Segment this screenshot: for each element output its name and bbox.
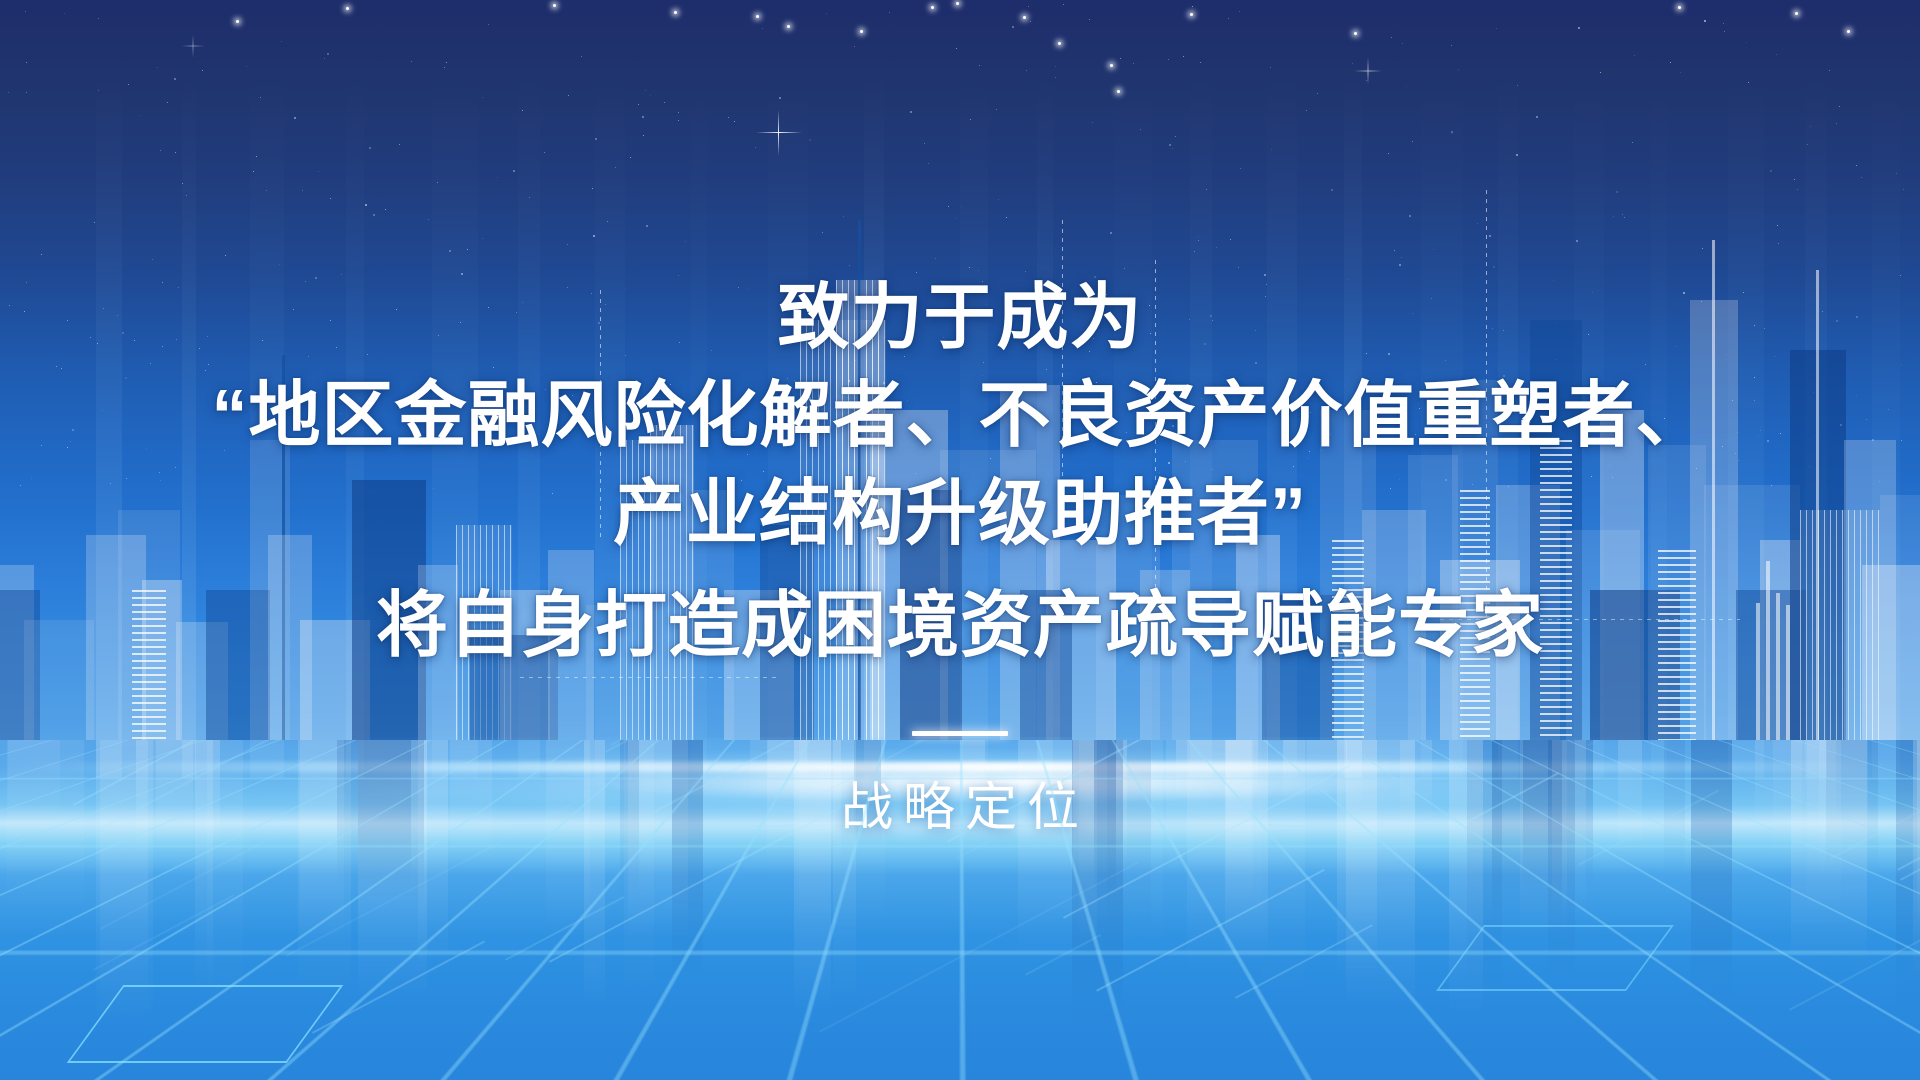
headline-line-2: “地区金融风险化解者、不良资产价值重塑者、 — [0, 380, 1920, 452]
headline-line-3: 产业结构升级助推者” — [0, 478, 1920, 550]
slide-canvas: 致力于成为 “地区金融风险化解者、不良资产价值重塑者、 产业结构升级助推者” 将… — [0, 0, 1920, 1080]
subtitle-label: 战略定位 — [0, 765, 1920, 840]
headline-line-4: 将自身打造成困境资产疏导赋能专家 — [0, 590, 1920, 662]
title-divider — [912, 731, 1008, 736]
content-layer: 致力于成为 “地区金融风险化解者、不良资产价值重塑者、 产业结构升级助推者” 将… — [0, 0, 1920, 1080]
headline-line-1: 致力于成为 — [0, 282, 1920, 354]
